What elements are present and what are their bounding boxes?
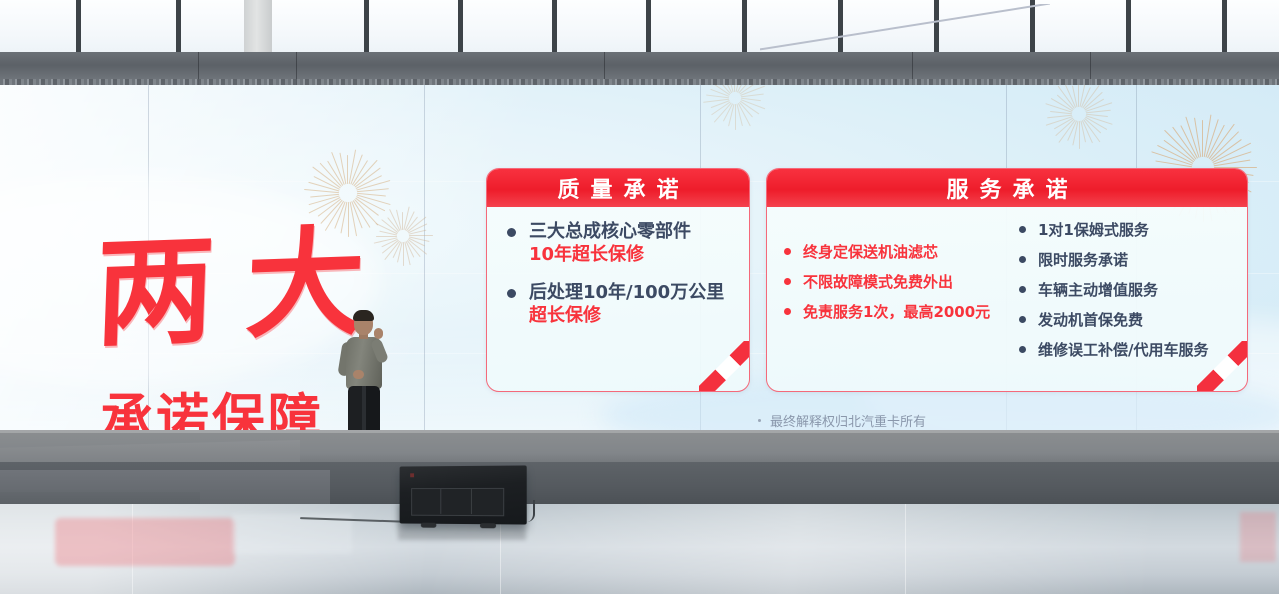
firework-ray bbox=[1072, 86, 1078, 108]
venue-floor bbox=[0, 504, 1279, 594]
firework-ray bbox=[327, 161, 343, 186]
card-quality-title: 质量承诺 bbox=[546, 172, 689, 204]
firework-ray bbox=[357, 193, 386, 197]
card-service-body: 终身定保送机油滤芯 不限故障模式免费外出 免责服务1次，最高2000元 1对1保… bbox=[767, 207, 1247, 381]
firework-ray bbox=[741, 97, 761, 101]
firework-ray bbox=[1058, 120, 1076, 143]
firework-ray bbox=[1080, 121, 1086, 143]
firework-ray bbox=[310, 194, 339, 198]
firework-ray bbox=[1051, 98, 1073, 112]
ceiling-dark-band bbox=[0, 52, 1279, 85]
headline-char-1: 两 bbox=[94, 231, 216, 353]
firework-ray bbox=[1082, 85, 1100, 108]
firework-ray bbox=[312, 166, 341, 188]
firework-ray bbox=[339, 153, 346, 185]
list-item: 后处理10年/100万公里 超长保修 bbox=[503, 282, 733, 327]
firework-ray bbox=[1164, 130, 1195, 161]
card-corner-stripe-decoration bbox=[699, 341, 750, 392]
firework-ray bbox=[714, 102, 732, 122]
firework-ray bbox=[738, 85, 754, 94]
firework-ray bbox=[319, 163, 342, 188]
firework-ray bbox=[1057, 95, 1074, 111]
service-left-list: 终身定保送机油滤芯 不限故障模式免费外出 免责服务1次，最高2000元 bbox=[783, 243, 996, 321]
presenter-hair bbox=[353, 310, 374, 321]
firework-ray bbox=[1045, 103, 1072, 113]
firework-ray bbox=[1072, 121, 1078, 146]
firework-ray bbox=[741, 93, 764, 97]
led-wall-screen: 两 大 承诺保障 追梦Pro专属服务 质量承诺 三大总成核心零部件 10年超长保… bbox=[0, 85, 1279, 430]
firework-ray bbox=[1086, 113, 1108, 117]
firework-ray bbox=[1081, 87, 1091, 108]
firework-ray bbox=[740, 85, 765, 95]
firework-ray bbox=[1046, 116, 1073, 126]
presenter-right-hand bbox=[374, 328, 383, 339]
firework-ray bbox=[1212, 142, 1251, 163]
quality-item-0-highlight: 10年超长保修 bbox=[529, 244, 733, 267]
firework-ray bbox=[1055, 119, 1074, 137]
firework-ray bbox=[347, 155, 348, 184]
firework-ray bbox=[1213, 151, 1251, 165]
firework-ray bbox=[1082, 120, 1093, 143]
firework-ray bbox=[1085, 102, 1112, 112]
firework-ray bbox=[734, 85, 735, 92]
firework-ray bbox=[1208, 124, 1234, 160]
firework-ray bbox=[396, 210, 402, 231]
quality-item-list: 三大总成核心零部件 10年超长保修 后处理10年/100万公里 超长保修 bbox=[503, 221, 733, 327]
firework-ray bbox=[309, 195, 340, 205]
card-quality-header: 质量承诺 bbox=[487, 169, 749, 207]
firework-ray bbox=[715, 85, 731, 94]
firework-ray bbox=[723, 103, 733, 121]
firework-ray bbox=[1185, 117, 1200, 158]
firework-ray bbox=[1085, 116, 1107, 130]
firework-ray bbox=[1211, 139, 1242, 162]
firework-ray bbox=[304, 189, 339, 194]
firework-ray bbox=[728, 104, 735, 127]
card-service-promise[interactable]: 服务承诺 终身定保送机油滤芯 不限故障模式免费外出 免责服务1次，最高2000元… bbox=[766, 168, 1248, 392]
firework-ray bbox=[739, 102, 753, 118]
firework-ray bbox=[1214, 159, 1251, 166]
firework-ray bbox=[357, 194, 391, 205]
firework-ray bbox=[1079, 85, 1085, 107]
firework-ray bbox=[1079, 121, 1080, 149]
firework-ray bbox=[1203, 114, 1211, 157]
stage-monitor-display[interactable] bbox=[400, 465, 527, 524]
firework-ray bbox=[1065, 85, 1076, 108]
firework-ray bbox=[1086, 115, 1113, 125]
list-item: 车辆主动增值服务 bbox=[1018, 281, 1231, 299]
disclaimer-text: 最终解释权归北汽重卡所有 bbox=[770, 411, 926, 430]
card-service-header: 服务承诺 bbox=[767, 169, 1247, 207]
firework-ray bbox=[735, 104, 736, 130]
firework-ray bbox=[308, 182, 339, 192]
presentation-scene: 两 大 承诺保障 追梦Pro专属服务 质量承诺 三大总成核心零部件 10年超长保… bbox=[0, 0, 1279, 594]
list-item: 免责服务1次，最高2000元 bbox=[783, 303, 996, 321]
firework-burst-icon bbox=[1040, 85, 1118, 153]
firework-ray bbox=[1057, 86, 1075, 109]
firework-ray bbox=[1202, 120, 1203, 157]
ceiling-diagonal-beam bbox=[760, 4, 1050, 56]
firework-ray bbox=[736, 104, 743, 127]
list-item: 不限故障模式免费外出 bbox=[783, 273, 996, 291]
firework-ray bbox=[741, 99, 766, 109]
card-quality-body: 三大总成核心零部件 10年超长保修 后处理10年/100万公里 超长保修 bbox=[487, 207, 749, 353]
list-item: 1对1保姆式服务 bbox=[1018, 221, 1231, 239]
firework-ray bbox=[1050, 111, 1072, 115]
quality-item-0-normal: 三大总成核心零部件 bbox=[529, 221, 733, 244]
firework-ray bbox=[309, 197, 341, 214]
list-item: 终身定保送机油滤芯 bbox=[783, 243, 996, 261]
power-led-icon bbox=[410, 473, 414, 477]
firework-ray bbox=[357, 188, 389, 192]
firework-ray bbox=[722, 85, 732, 93]
firework-ray bbox=[387, 217, 399, 232]
list-item: 发动机首保免费 bbox=[1018, 311, 1231, 329]
firework-ray bbox=[735, 85, 741, 92]
firework-ray bbox=[710, 89, 729, 97]
firework-ray bbox=[356, 196, 385, 211]
firework-ray bbox=[739, 85, 756, 95]
monitor-back-panel bbox=[411, 488, 504, 516]
firework-ray bbox=[1078, 85, 1079, 107]
list-item: 三大总成核心零部件 10年超长保修 bbox=[503, 221, 733, 266]
firework-ray bbox=[711, 100, 730, 108]
firework-ray bbox=[738, 103, 751, 127]
firework-burst-icon bbox=[700, 85, 770, 133]
card-service-title: 服务承诺 bbox=[935, 172, 1078, 204]
firework-ray bbox=[403, 206, 410, 230]
firework-ray bbox=[354, 167, 380, 187]
firework-ray bbox=[1084, 98, 1104, 110]
firework-ray bbox=[1205, 119, 1219, 157]
firework-ray bbox=[711, 101, 731, 115]
firework-ray bbox=[740, 100, 760, 114]
firework-ray bbox=[1086, 109, 1111, 113]
firework-ray bbox=[1172, 127, 1197, 160]
firework-ray bbox=[706, 95, 729, 99]
firework-ray bbox=[737, 85, 750, 93]
firework-ray bbox=[381, 219, 398, 233]
firework-ray bbox=[1084, 118, 1101, 134]
firework-ray bbox=[1083, 119, 1101, 142]
presenter-left-hand bbox=[353, 370, 364, 379]
firework-ray bbox=[726, 85, 733, 92]
firework-ray bbox=[402, 212, 403, 230]
firework-ray bbox=[1155, 160, 1192, 167]
list-item: 限时服务承诺 bbox=[1018, 251, 1231, 269]
firework-ray bbox=[1157, 145, 1193, 164]
firework-ray bbox=[1207, 125, 1225, 159]
firework-ray bbox=[1047, 115, 1072, 119]
firework-ray bbox=[1180, 125, 1198, 159]
firework-ray bbox=[404, 211, 414, 230]
service-column-left: 终身定保送机油滤芯 不限故障模式免费外出 免责服务1次，最高2000元 bbox=[783, 221, 996, 371]
quality-item-1-highlight: 超长保修 bbox=[529, 305, 733, 328]
firework-ray bbox=[353, 160, 378, 187]
firework-ray bbox=[406, 216, 418, 231]
card-quality-promise[interactable]: 质量承诺 三大总成核心零部件 10年超长保修 后处理10年/100万公里 超长保… bbox=[486, 168, 750, 392]
firework-ray bbox=[703, 99, 729, 103]
firework-ray bbox=[389, 209, 401, 231]
firework-ray bbox=[1194, 118, 1202, 158]
service-right-list: 1对1保姆式服务 限时服务承诺 车辆主动增值服务 发动机首保免费 维修误工补偿/… bbox=[1018, 221, 1231, 359]
firework-ray bbox=[1210, 131, 1239, 160]
firework-ray bbox=[1163, 140, 1194, 163]
firework-ray bbox=[1083, 92, 1102, 110]
card-corner-stripe-decoration bbox=[1197, 341, 1248, 392]
quality-item-1-normal: 后处理10年/100万公里 bbox=[529, 282, 733, 305]
firework-ray bbox=[1054, 118, 1074, 130]
firework-ray bbox=[1067, 120, 1077, 141]
firework-ray bbox=[313, 176, 340, 190]
firework-ray bbox=[708, 85, 730, 96]
firework-ray bbox=[348, 150, 356, 185]
firework-ray bbox=[1151, 151, 1192, 166]
